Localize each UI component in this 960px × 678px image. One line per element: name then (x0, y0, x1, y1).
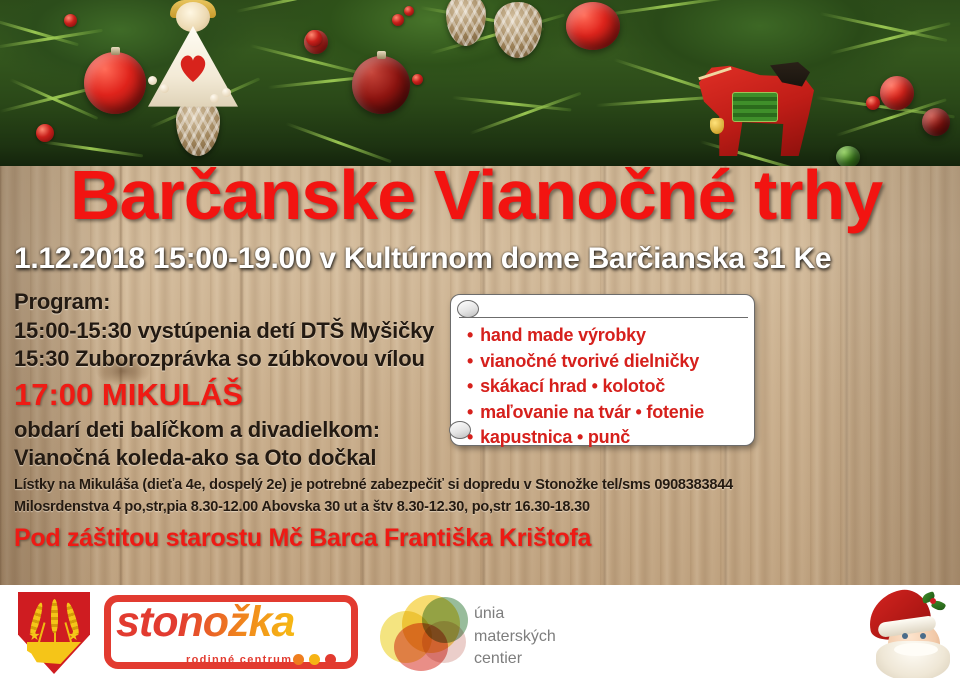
stonozka-dots-icon (293, 654, 336, 665)
poster-dateline: 1.12.2018 15:00-19.00 v Kultúrnom dome B… (14, 243, 954, 275)
fineprint-line: Lístky na Mikuláša (dieťa 4e, dospelý 2e… (14, 474, 944, 496)
stonozka-tagline: rodinné centrum (186, 654, 292, 666)
program-block: Program: 15:00-15:30 vystúpenia detí DTŠ… (14, 288, 454, 473)
unia-line-1: únia (474, 603, 556, 626)
unia-line-3: centier (474, 648, 556, 671)
list-item: hand made výrobky (467, 323, 747, 349)
scroll-curl-icon (457, 300, 479, 318)
program-line: 15:00-15:30 vystúpenia detí DTŠ Myšičky (14, 317, 454, 346)
stonozka-logo: stonožka rodinné centrum (100, 587, 362, 677)
christmas-market-poster: Barčanske Vianočné trhy 1.12.2018 15:00-… (0, 0, 960, 678)
barca-coat-of-arms-logo (18, 592, 90, 674)
list-item: kapustnica • punč (467, 425, 747, 451)
bauble-ornament (566, 2, 620, 50)
patron-line: Pod záštitou starostu Mč Barca Františka… (14, 524, 914, 553)
program-line: obdarí deti balíčkom a divadielkom: (14, 416, 454, 445)
pine-cone (494, 2, 542, 58)
unia-line-2: materských (474, 626, 556, 649)
bauble-ornament (352, 56, 410, 114)
attractions-list: hand made výrobky vianočné tvorivé dieln… (467, 323, 747, 451)
sponsor-footer: stonožka rodinné centrum únia materských… (0, 585, 960, 678)
bauble-ornament (880, 76, 914, 110)
poster-title: Barčanske Vianočné trhy (70, 160, 950, 230)
dala-horse-ornament (686, 44, 814, 156)
list-item: skákací hrad • kolotoč (467, 374, 747, 400)
program-highlight: 17:00 MIKULÁŠ (14, 374, 454, 416)
program-line: 15:30 Zuborozprávka so zúbkovou vílou (14, 345, 454, 374)
list-item: maľovanie na tvár • fotenie (467, 400, 747, 426)
unia-wordmark: únia materských centier (474, 603, 556, 671)
scroll-top-bar (459, 301, 748, 318)
santa-claus-illustration (858, 589, 954, 677)
unia-materskych-centier-logo: únia materských centier (378, 593, 588, 671)
list-item: vianočné tvorivé dielničky (467, 349, 747, 375)
angel-ornament (140, 2, 246, 120)
program-label: Program: (14, 288, 454, 317)
stonozka-wordmark: stonožka (116, 601, 346, 644)
program-line: Vianočná koleda-ako sa Oto dočkal (14, 444, 454, 473)
fineprint-block: Lístky na Mikuláša (dieťa 4e, dospelý 2e… (14, 474, 944, 519)
attractions-scroll-box: hand made výrobky vianočné tvorivé dieln… (450, 294, 755, 446)
bauble-ornament (922, 108, 950, 136)
fineprint-line: Milosrdenstva 4 po,str,pia 8.30-12.00 Ab… (14, 496, 944, 518)
bauble-ornament (84, 52, 146, 114)
christmas-garland-border (0, 0, 960, 166)
